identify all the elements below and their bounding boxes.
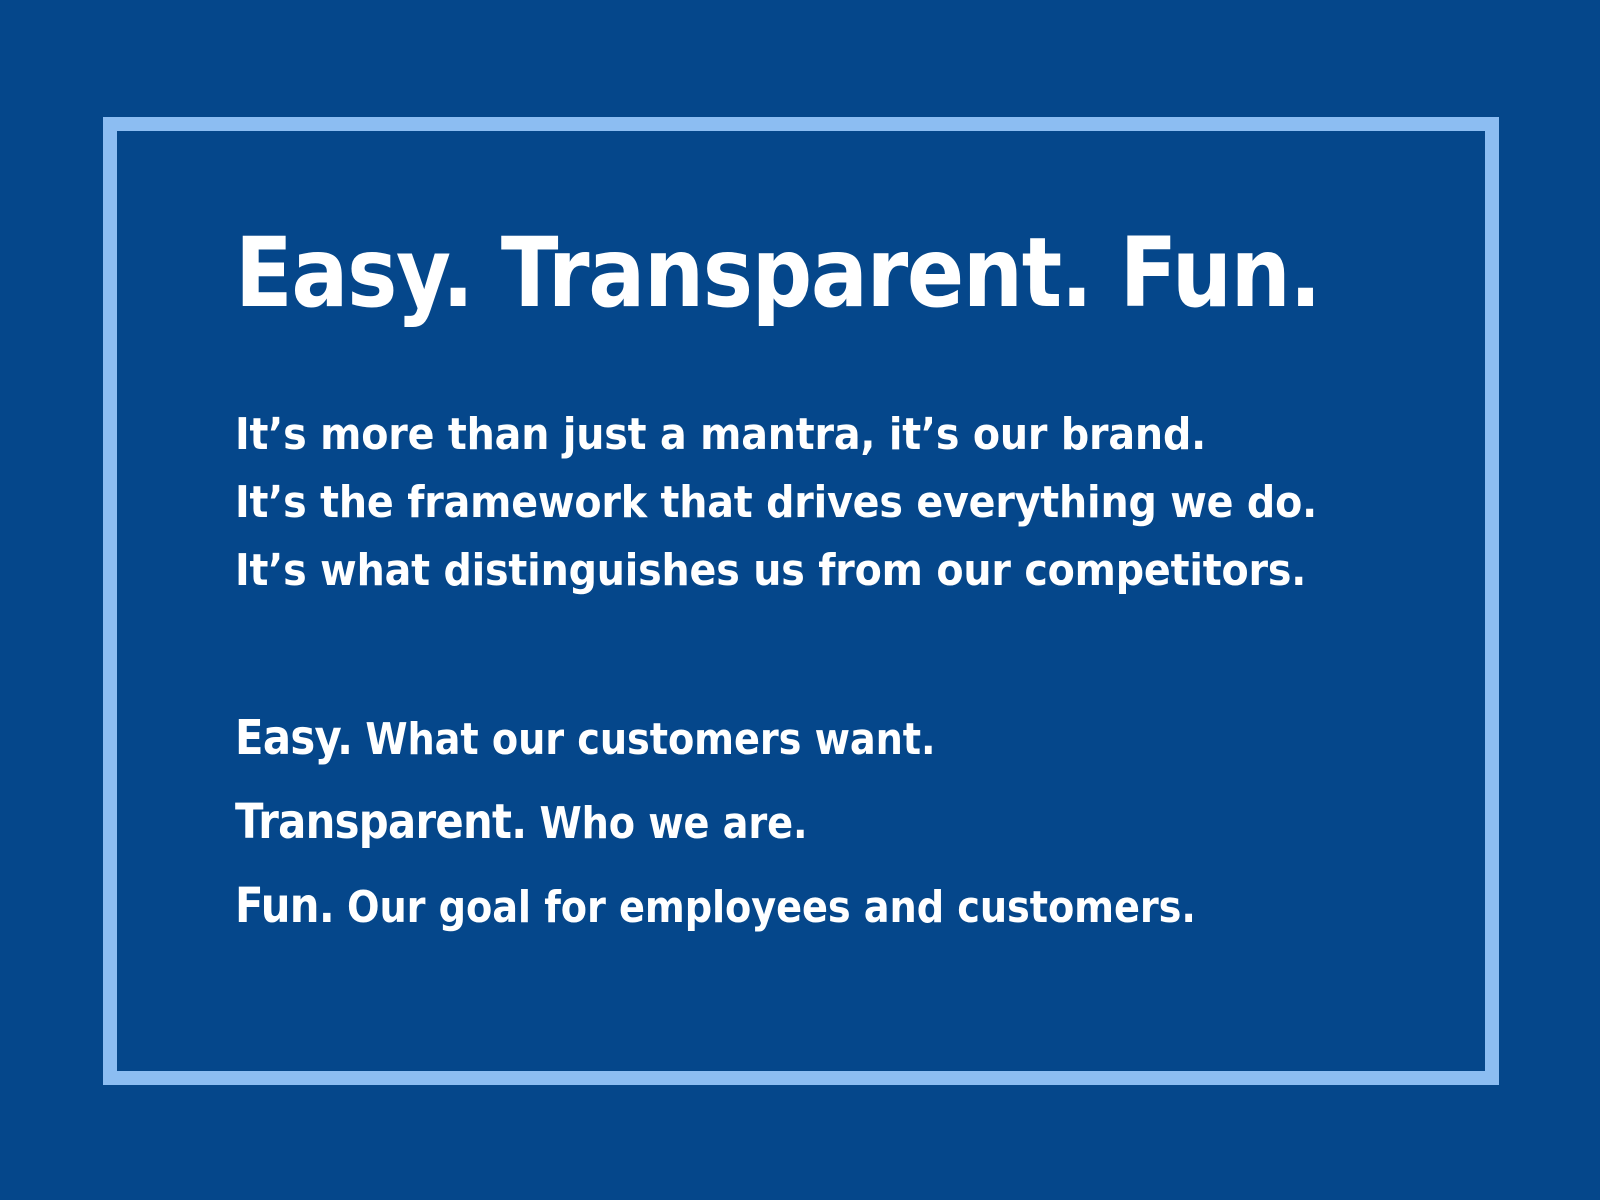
definition-description-fun: Our goal for employees and customers. — [347, 882, 1196, 933]
slide-content: Easy. Transparent. Fun. It’s more than j… — [235, 225, 1395, 949]
definition-term-transparent: Transparent. — [235, 794, 526, 850]
brand-slide: Easy. Transparent. Fun. It’s more than j… — [0, 0, 1600, 1200]
definition-list: Easy. What our customers want. Transpare… — [235, 697, 1395, 949]
intro-line-1: It’s more than just a mantra, it’s our b… — [235, 401, 1279, 469]
definition-term-easy: Easy. — [235, 710, 352, 766]
definition-item-easy: Easy. What our customers want. — [235, 697, 1244, 781]
definition-description-transparent: Who we are. — [539, 798, 807, 849]
intro-paragraph: It’s more than just a mantra, it’s our b… — [235, 401, 1395, 605]
definition-description-easy: What our customers want. — [365, 714, 935, 765]
definition-term-fun: Fun. — [235, 878, 334, 934]
definition-item-transparent: Transparent. Who we are. — [235, 781, 1244, 865]
intro-line-2: It’s the framework that drives everythin… — [235, 469, 1279, 537]
intro-line-3: It’s what distinguishes us from our comp… — [235, 537, 1279, 605]
definition-item-fun: Fun. Our goal for employees and customer… — [235, 865, 1244, 949]
page-title: Easy. Transparent. Fun. — [235, 225, 1256, 323]
